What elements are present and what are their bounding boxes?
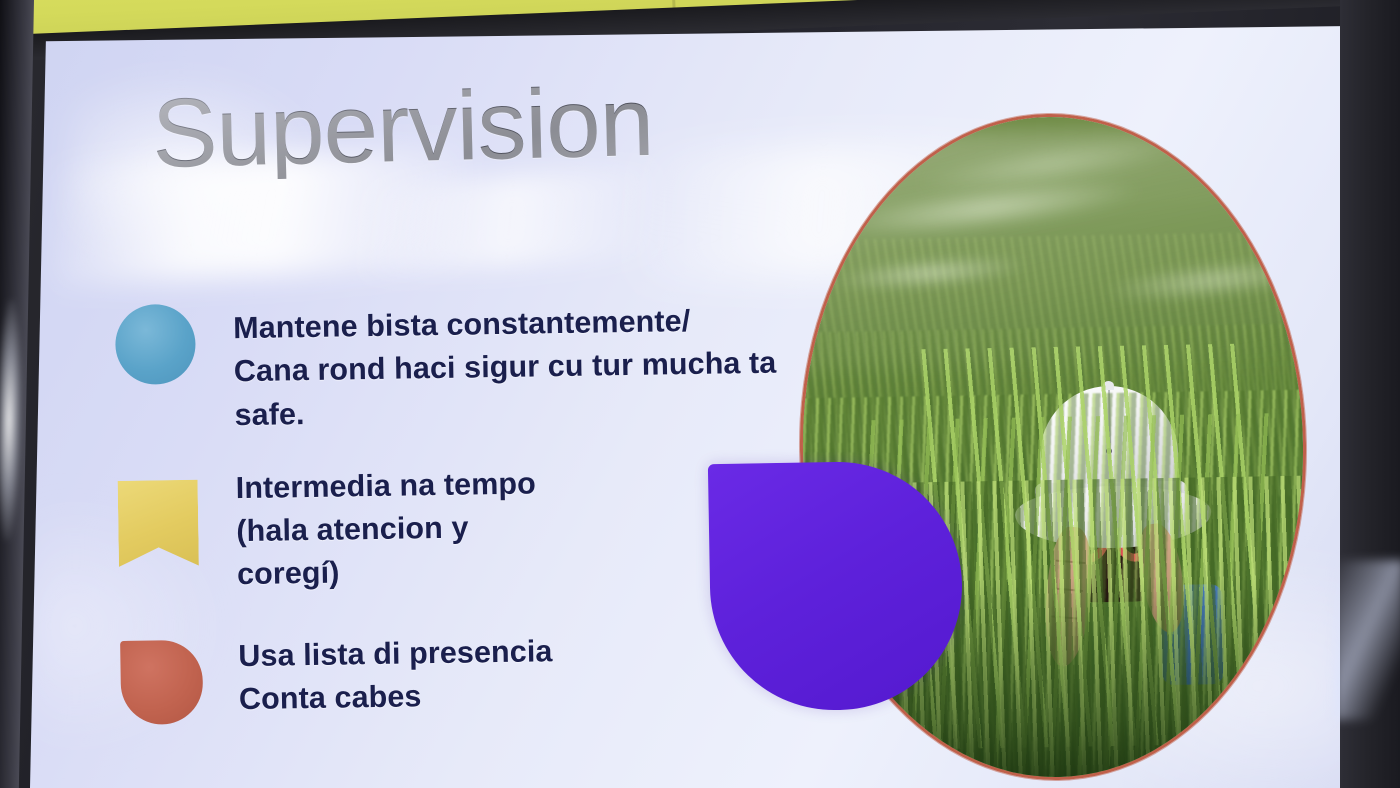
bullet-item-1: Mantene bista constantemente/ Cana rond … [114, 269, 756, 439]
red-teardrop-bullet-icon [120, 640, 203, 725]
presentation-slide: Supervision Mantene bista constantemente… [30, 26, 1352, 788]
bullet-icon-slot-1 [115, 304, 200, 389]
frame-left-glare [0, 300, 24, 540]
bullet-item-3: Usa lista di presencia Conta cabes [120, 605, 762, 725]
bullet-text-3: Usa lista di presencia Conta cabes [238, 627, 761, 722]
yellow-ribbon-bullet-icon [118, 480, 199, 567]
screen-frame-right [1340, 0, 1400, 788]
photo-of-projected-slide: Supervision Mantene bista constantemente… [0, 0, 1400, 788]
bullet-line: Cana rond haci sigur cu tur mucha ta [234, 342, 777, 394]
bullet-list: Mantene bista constantemente/ Cana rond … [114, 269, 761, 741]
bullet-item-2: Intermedia na tempo (hala atencion y cor… [117, 445, 759, 599]
bullet-line: Conta cabes [239, 670, 762, 721]
bullet-line: safe. [234, 385, 777, 437]
screen-glare-3 [357, 166, 663, 277]
frame-right-glare [1334, 560, 1400, 720]
bullet-line: coregí) [237, 545, 760, 596]
bullet-text-1: Mantene bista constantemente/ Cana rond … [233, 299, 778, 437]
blue-circle-bullet-icon [115, 304, 196, 385]
bullet-text-2: Intermedia na tempo (hala atencion y cor… [235, 459, 759, 597]
slide-title: Supervision [151, 72, 654, 182]
bullet-icon-slot-2 [118, 480, 203, 565]
bullet-icon-slot-3 [120, 639, 205, 724]
